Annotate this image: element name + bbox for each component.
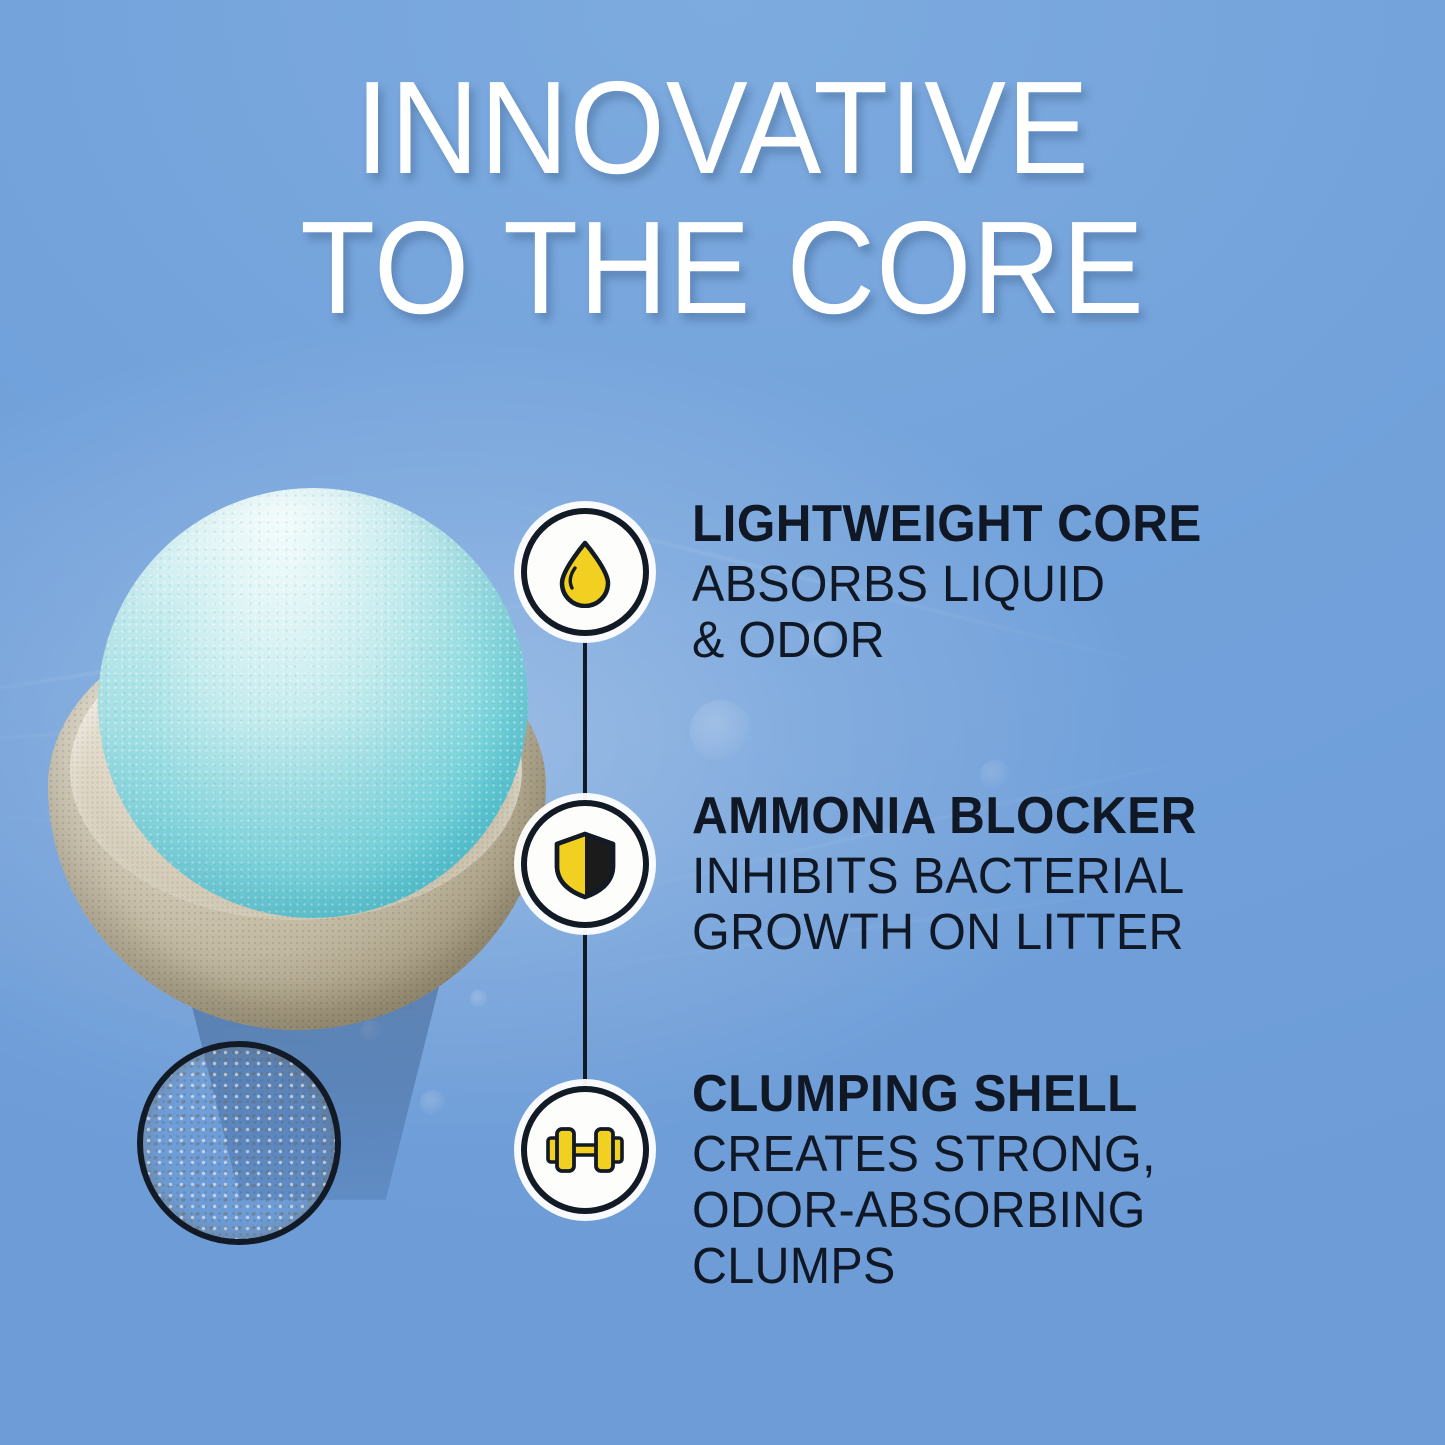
feature-heading: CLUMPING SHELL: [692, 1068, 1357, 1122]
feature-body-line: CLUMPS: [692, 1238, 1357, 1294]
product-infographic: INNOVATIVE TO THE CORE: [0, 0, 1445, 1445]
feature-body: INHIBITS BACTERIAL GROWTH ON LITTER: [692, 848, 1357, 960]
feature-clumping-shell: CLUMPING SHELL CREATES STRONG, ODOR-ABSO…: [692, 1068, 1392, 1294]
feature-body-line: GROWTH ON LITTER: [692, 904, 1357, 960]
feature-body-line: ABSORBS LIQUID: [692, 556, 1357, 612]
feature-body-line: CREATES STRONG,: [692, 1126, 1357, 1182]
sphere: [40, 470, 560, 990]
feature-heading: LIGHTWEIGHT CORE: [692, 498, 1357, 552]
lightweight-core: [98, 488, 528, 918]
badge-clumping-shell[interactable]: [521, 1086, 649, 1214]
feature-ammonia-blocker: AMMONIA BLOCKER INHIBITS BACTERIAL GROWT…: [692, 790, 1392, 960]
title-line-1: INNOVATIVE: [51, 58, 1395, 198]
water-drop-icon: [549, 536, 621, 608]
badge-lightweight-core[interactable]: [521, 508, 649, 636]
feature-lightweight-core: LIGHTWEIGHT CORE ABSORBS LIQUID & ODOR: [692, 498, 1392, 668]
dumbbell-icon: [545, 1123, 625, 1177]
feature-body-line: ODOR-ABSORBING: [692, 1182, 1357, 1238]
feature-body: CREATES STRONG, ODOR-ABSORBING CLUMPS: [692, 1126, 1357, 1294]
feature-body: ABSORBS LIQUID & ODOR: [692, 556, 1357, 668]
feature-heading: AMMONIA BLOCKER: [692, 790, 1357, 844]
shield-icon: [550, 828, 620, 900]
litter-granules-closeup: [137, 1041, 341, 1245]
badge-ammonia-blocker[interactable]: [521, 800, 649, 928]
page-title: INNOVATIVE TO THE CORE: [0, 58, 1445, 338]
feature-body-line: & ODOR: [692, 612, 1357, 668]
title-line-2: TO THE CORE: [51, 198, 1395, 338]
feature-body-line: INHIBITS BACTERIAL: [692, 848, 1357, 904]
